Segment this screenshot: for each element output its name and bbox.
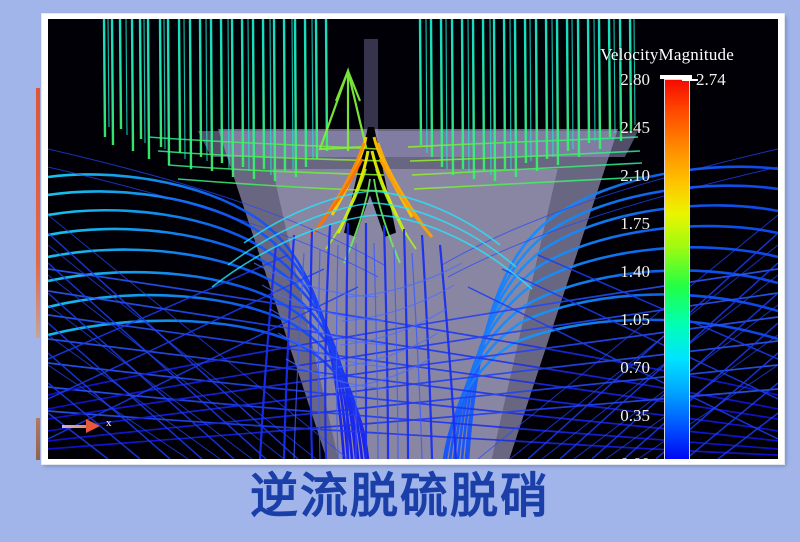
scalar-range-max-label: 2.74 [696,71,726,88]
scalar-tick-label: 2.10 [620,167,650,184]
scalar-tick-label: 1.05 [620,311,650,328]
slide-edge-marker [36,88,40,338]
x-axis-arrowhead-icon [86,419,100,433]
scalar-bar-legend[interactable]: VelocityMagnitude 2.80 2.45 2.10 1.75 1.… [564,57,734,459]
scalar-tick-label: 0.70 [620,359,650,376]
presentation-slide: x VelocityMagnitude 2.80 2.45 2.10 1.75 … [0,0,800,542]
slide-edge-marker-lower [36,418,40,460]
scalar-tick-label: 2.45 [620,119,650,136]
scalar-tick-label: 0.00 [620,455,650,459]
scalar-tick-label: 1.75 [620,215,650,232]
slide-caption: 逆流脱硫脱硝 [0,470,800,523]
image-frame-inner: x VelocityMagnitude 2.80 2.45 2.10 1.75 … [48,19,778,459]
cfd-viewport[interactable]: x VelocityMagnitude 2.80 2.45 2.10 1.75 … [48,19,778,459]
scalar-tick-label: 1.40 [620,263,650,280]
scalar-bar-title: VelocityMagnitude [600,45,734,65]
scalar-tick-label: 0.35 [620,407,650,424]
image-frame: x VelocityMagnitude 2.80 2.45 2.10 1.75 … [42,14,784,464]
scalar-tick-label: 2.80 [620,71,650,88]
orientation-axis-widget: x [62,415,122,439]
scalar-bar-gradient [664,79,690,459]
x-axis-arrow-icon [62,425,88,428]
axis-label-x: x [106,417,112,429]
